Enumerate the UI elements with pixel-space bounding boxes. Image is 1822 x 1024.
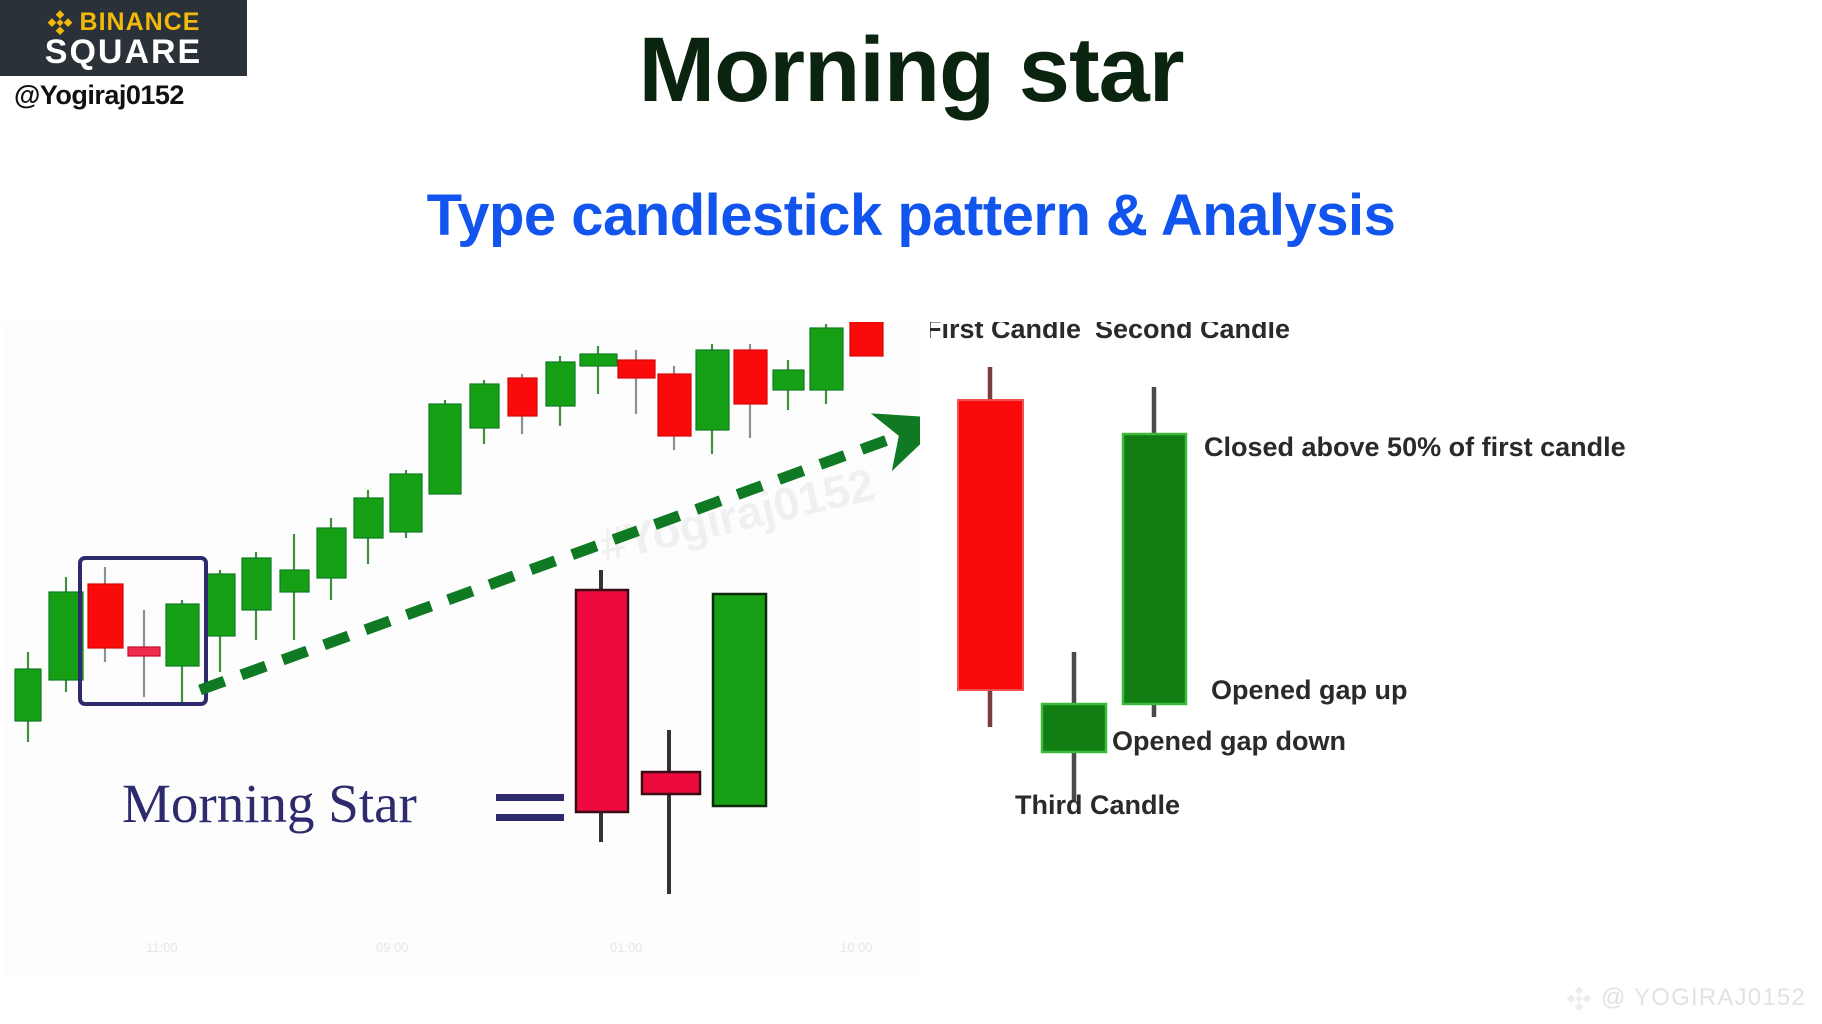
first-candle-figure	[958, 367, 1023, 727]
axis-tick-1: 09:00	[376, 940, 409, 955]
second-candle-figure	[1123, 387, 1186, 717]
binance-diamond-icon	[1566, 985, 1592, 1011]
morning-star-anatomy-diagram: First Candle Second Candle Open Close Cl…	[930, 322, 1820, 987]
axis-tick-2: 01:00	[610, 940, 643, 955]
label-third-candle: Third Candle	[1015, 790, 1180, 820]
axis-tick-3: 10:00	[840, 940, 873, 955]
candle-12	[429, 400, 461, 494]
annotation-closed-above: Closed above 50% of first candle	[1204, 432, 1626, 462]
triplet-candle-bullish	[713, 594, 766, 806]
annotation-gap-down: Opened gap down	[1112, 726, 1346, 756]
label-second-candle: Second Candle	[1095, 322, 1290, 344]
diagram-background	[930, 322, 1820, 987]
footer-watermark-text: @ YOGIRAJ0152	[1601, 984, 1806, 1012]
annotation-gap-up: Opened gap up	[1211, 675, 1408, 705]
page-subtitle: Type candlestick pattern & Analysis	[0, 182, 1822, 249]
axis-tick-0: 11:00	[146, 940, 178, 955]
right-diagram-panel: First Candle Second Candle Open Close Cl…	[930, 322, 1820, 987]
candle-23-bearish	[850, 322, 883, 356]
morning-star-caption: Morning Star	[122, 773, 417, 834]
uptrend-candlestick-chart: #Yogiraj0152	[4, 322, 920, 977]
triplet-candle-bearish	[576, 570, 628, 842]
candle-2	[49, 577, 83, 692]
left-chart-panel: #Yogiraj0152	[4, 322, 920, 977]
footer-watermark: @ YOGIRAJ0152	[1566, 984, 1806, 1012]
page-title: Morning star	[0, 22, 1822, 119]
label-first-candle: First Candle	[930, 322, 1081, 344]
candle-11	[390, 470, 422, 538]
